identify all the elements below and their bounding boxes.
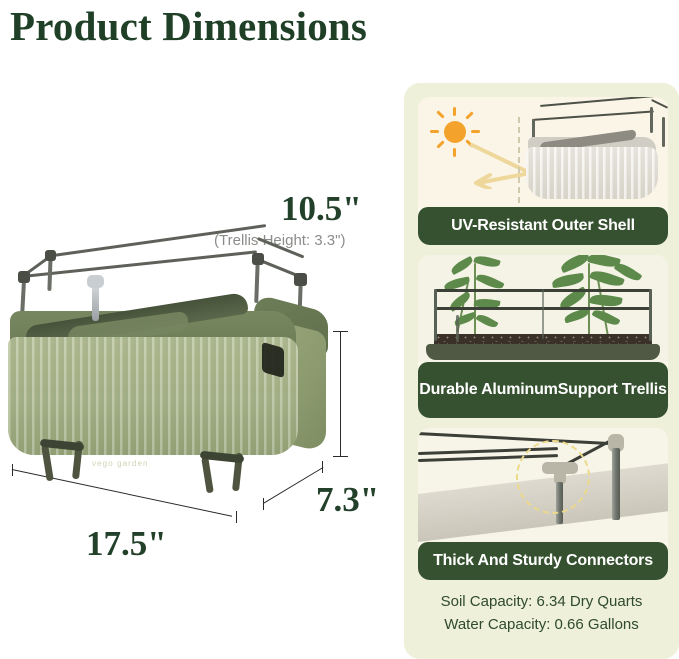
trellis-post-back-right (254, 259, 260, 303)
sun-ray-icon (430, 130, 439, 133)
trellis-cap-back-left (45, 250, 56, 261)
width-dimension-label: 17.5" (86, 524, 167, 564)
brand-logo-text: vego garden (92, 459, 149, 468)
height-measure-cap-top (333, 331, 348, 332)
white-planter-illustration (526, 103, 666, 203)
trellis-post-icon (649, 289, 652, 341)
connector-illustration (418, 428, 668, 542)
trellis-cap-front-right (294, 273, 307, 286)
feature-panel: UV-Resistant Outer Shell (404, 83, 679, 659)
feature-card-trellis[interactable]: Durable Aluminum Support Trellis (418, 255, 668, 418)
white-planter-rib-texture (526, 147, 658, 199)
dashed-shell-line-icon (518, 117, 520, 203)
planter-leg-front-right (201, 457, 214, 494)
trellis-post-icon (650, 107, 653, 133)
trellis-post-icon (612, 448, 620, 520)
sun-ray-icon (453, 107, 456, 116)
sun-icon (444, 121, 466, 143)
feature-label-uv-shell: UV-Resistant Outer Shell (418, 207, 668, 245)
product-dimension-illustration: 10.5" (Trellis Height: 3.3") 17.5" 7.3" (0, 70, 400, 659)
sun-ray-icon (436, 110, 444, 118)
trellis-bar-icon (532, 110, 654, 121)
planter-side-vent (262, 342, 284, 378)
feature-card-connectors[interactable]: Thick And Sturdy Connectors (418, 428, 668, 580)
page-title: Product Dimensions (10, 2, 367, 50)
capacity-specs: Soil Capacity: 6.34 Dry Quarts Water Cap… (404, 591, 679, 636)
depth-measure-cap-left (263, 498, 264, 510)
depth-dimension-label: 7.3" (316, 480, 379, 520)
trellis-rail-icon (418, 432, 623, 446)
water-gauge-icon (456, 315, 459, 341)
feature-label-trellis-line2: Support Trellis (558, 381, 667, 399)
trellis-plants-illustration (418, 255, 668, 362)
height-measure-cap-bottom (333, 456, 348, 457)
sun-ray-icon (453, 148, 456, 157)
planter-rib-texture (8, 337, 298, 455)
planter-body-front: vego garden (8, 337, 298, 455)
white-planter-shell (526, 147, 658, 199)
soil-capacity-text: Soil Capacity: 6.34 Dry Quarts (404, 591, 679, 614)
height-measure-line (340, 331, 341, 457)
feature-card-uv-shell[interactable]: UV-Resistant Outer Shell (418, 97, 668, 245)
trellis-post-icon (434, 289, 437, 341)
trellis-bar-icon (540, 97, 656, 107)
height-dimension-label: 10.5" (281, 189, 362, 229)
trellis-post-icon (542, 289, 544, 339)
sun-ray-icon (436, 140, 444, 148)
trellis-cap-back-right (252, 253, 264, 265)
sun-ray-icon (471, 130, 480, 133)
width-measure-cap-right (236, 511, 237, 523)
highlight-circle-icon (516, 440, 590, 514)
width-measure-line (12, 469, 232, 517)
uv-shell-illustration (418, 97, 668, 207)
feature-label-connectors: Thick And Sturdy Connectors (418, 542, 668, 580)
planter-tray (426, 344, 660, 360)
planter-illustration: vego garden (8, 245, 328, 475)
feature-label-trellis-line1: Durable Aluminum (419, 381, 557, 399)
trellis-cap-front-left (18, 271, 30, 283)
trellis-post-icon (662, 117, 665, 147)
water-gauge-cap-icon (87, 275, 104, 288)
sun-ray-icon (465, 111, 473, 119)
feature-label-trellis: Durable Aluminum Support Trellis (418, 362, 668, 418)
trellis-bar-icon (651, 99, 668, 109)
water-capacity-text: Water Capacity: 0.66 Gallons (404, 614, 679, 637)
